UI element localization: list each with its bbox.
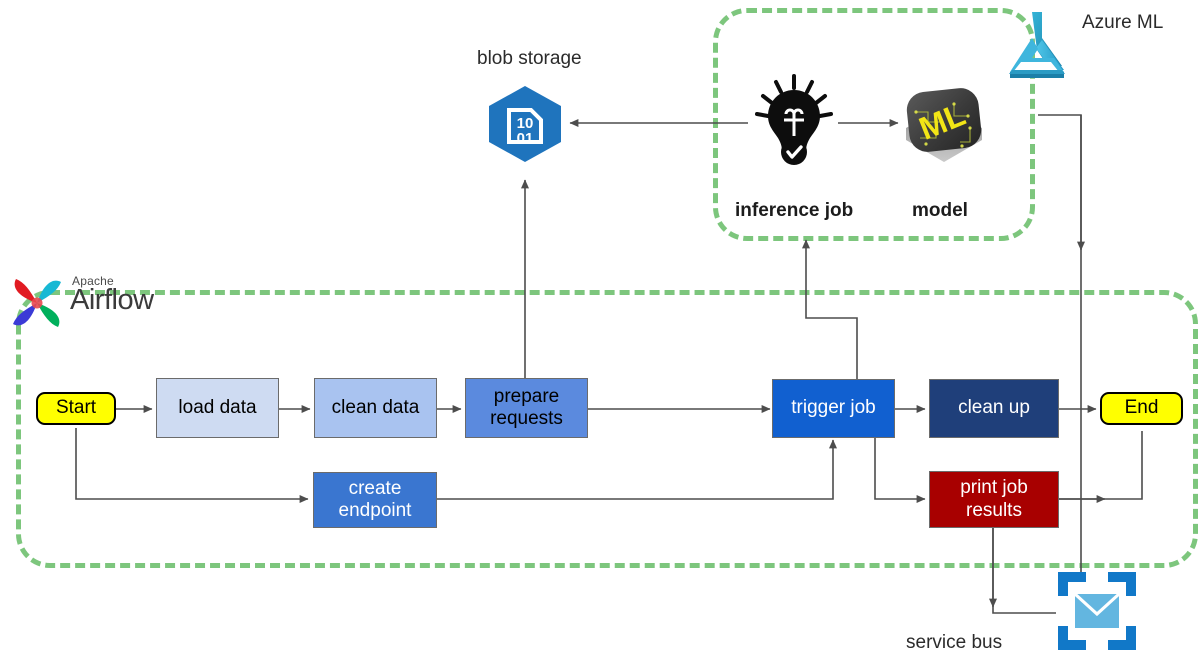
node-end-label: End (1125, 397, 1159, 419)
node-clean-data[interactable]: clean data (314, 378, 437, 438)
node-clean-up-label: clean up (958, 397, 1030, 419)
service-bus-label: service bus (906, 632, 1002, 654)
node-start[interactable]: Start (36, 392, 116, 425)
model-label: model (912, 200, 968, 222)
node-trigger-job[interactable]: trigger job (772, 379, 895, 438)
node-clean-data-label: clean data (332, 397, 420, 419)
blob-storage-label: blob storage (477, 48, 582, 70)
node-print-job-results-label: print job results (960, 477, 1028, 522)
blob-storage-icon[interactable]: 10 01 (481, 82, 569, 166)
svg-text:01: 01 (517, 130, 534, 147)
node-create-endpoint-label: create endpoint (339, 478, 412, 523)
edge-start-create-endpoint (76, 428, 308, 499)
lightbulb-check-icon[interactable] (748, 72, 840, 168)
node-trigger-job-label: trigger job (791, 397, 876, 419)
airflow-logo: Apache Airflow (6, 272, 166, 334)
service-bus-envelope-icon[interactable] (1056, 570, 1138, 652)
node-start-label: Start (56, 397, 96, 419)
node-prepare-requests[interactable]: prepare requests (465, 378, 588, 438)
edge-print-end (1059, 431, 1142, 499)
diagram-canvas: Start load data clean data prepare reque… (0, 0, 1200, 671)
node-end[interactable]: End (1100, 392, 1183, 425)
node-print-job-results[interactable]: print job results (929, 471, 1059, 528)
node-load-data[interactable]: load data (156, 378, 279, 438)
connector-layer (0, 0, 1200, 671)
edge-print-servicebus (993, 528, 1056, 613)
airflow-name: Airflow (70, 284, 154, 317)
edge-trigger-print (875, 437, 925, 499)
azure-ml-flask-icon (1008, 10, 1072, 82)
node-clean-up[interactable]: clean up (929, 379, 1059, 438)
node-load-data-label: load data (178, 397, 256, 419)
edge-endpoint-trigger (437, 440, 833, 499)
airflow-pinwheel-icon (6, 272, 68, 334)
node-create-endpoint[interactable]: create endpoint (313, 472, 437, 528)
inference-job-label: inference job (735, 200, 853, 222)
node-prepare-requests-label: prepare requests (490, 386, 563, 431)
ml-cube-icon[interactable]: ML (896, 76, 992, 170)
azure-ml-label: Azure ML (1082, 12, 1163, 34)
